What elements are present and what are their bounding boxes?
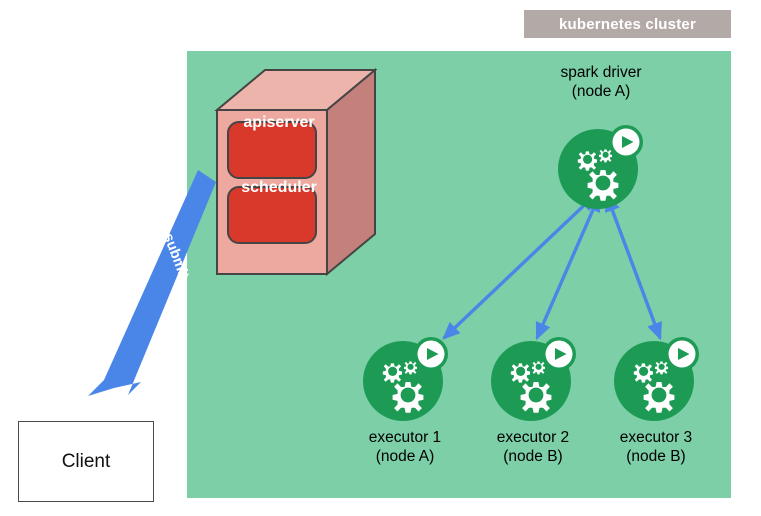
kubernetes-cluster-badge-label: kubernetes cluster — [559, 16, 696, 33]
executor-3-caption: executor 3 (node B) — [576, 428, 736, 466]
executor-3-node-label: (node B) — [576, 447, 736, 466]
client-box[interactable]: Client — [18, 421, 154, 502]
control-plane-cube: apiserver scheduler — [197, 62, 377, 277]
gears-play-icon — [358, 330, 454, 426]
kubernetes-cluster-badge: kubernetes cluster — [524, 10, 731, 38]
gears-play-icon — [609, 330, 705, 426]
executor-3-node[interactable] — [609, 330, 705, 426]
gears-play-icon — [553, 118, 649, 214]
spark-driver-caption: spark driver (node A) — [521, 63, 681, 101]
executor-3-name: executor 3 — [576, 428, 736, 447]
diagram-canvas: kubernetes cluster apiserver scheduler — [0, 0, 761, 516]
executor-2-node[interactable] — [486, 330, 582, 426]
gears-play-icon — [486, 330, 582, 426]
cube-shape-icon — [197, 62, 377, 277]
apiserver-label: apiserver — [219, 114, 339, 132]
spark-driver-name: spark driver — [521, 63, 681, 82]
spark-driver-node-label: (node A) — [521, 82, 681, 101]
client-label: Client — [62, 451, 111, 473]
scheduler-label: scheduler — [219, 179, 339, 197]
executor-1-node[interactable] — [358, 330, 454, 426]
spark-driver-node[interactable] — [553, 118, 649, 214]
